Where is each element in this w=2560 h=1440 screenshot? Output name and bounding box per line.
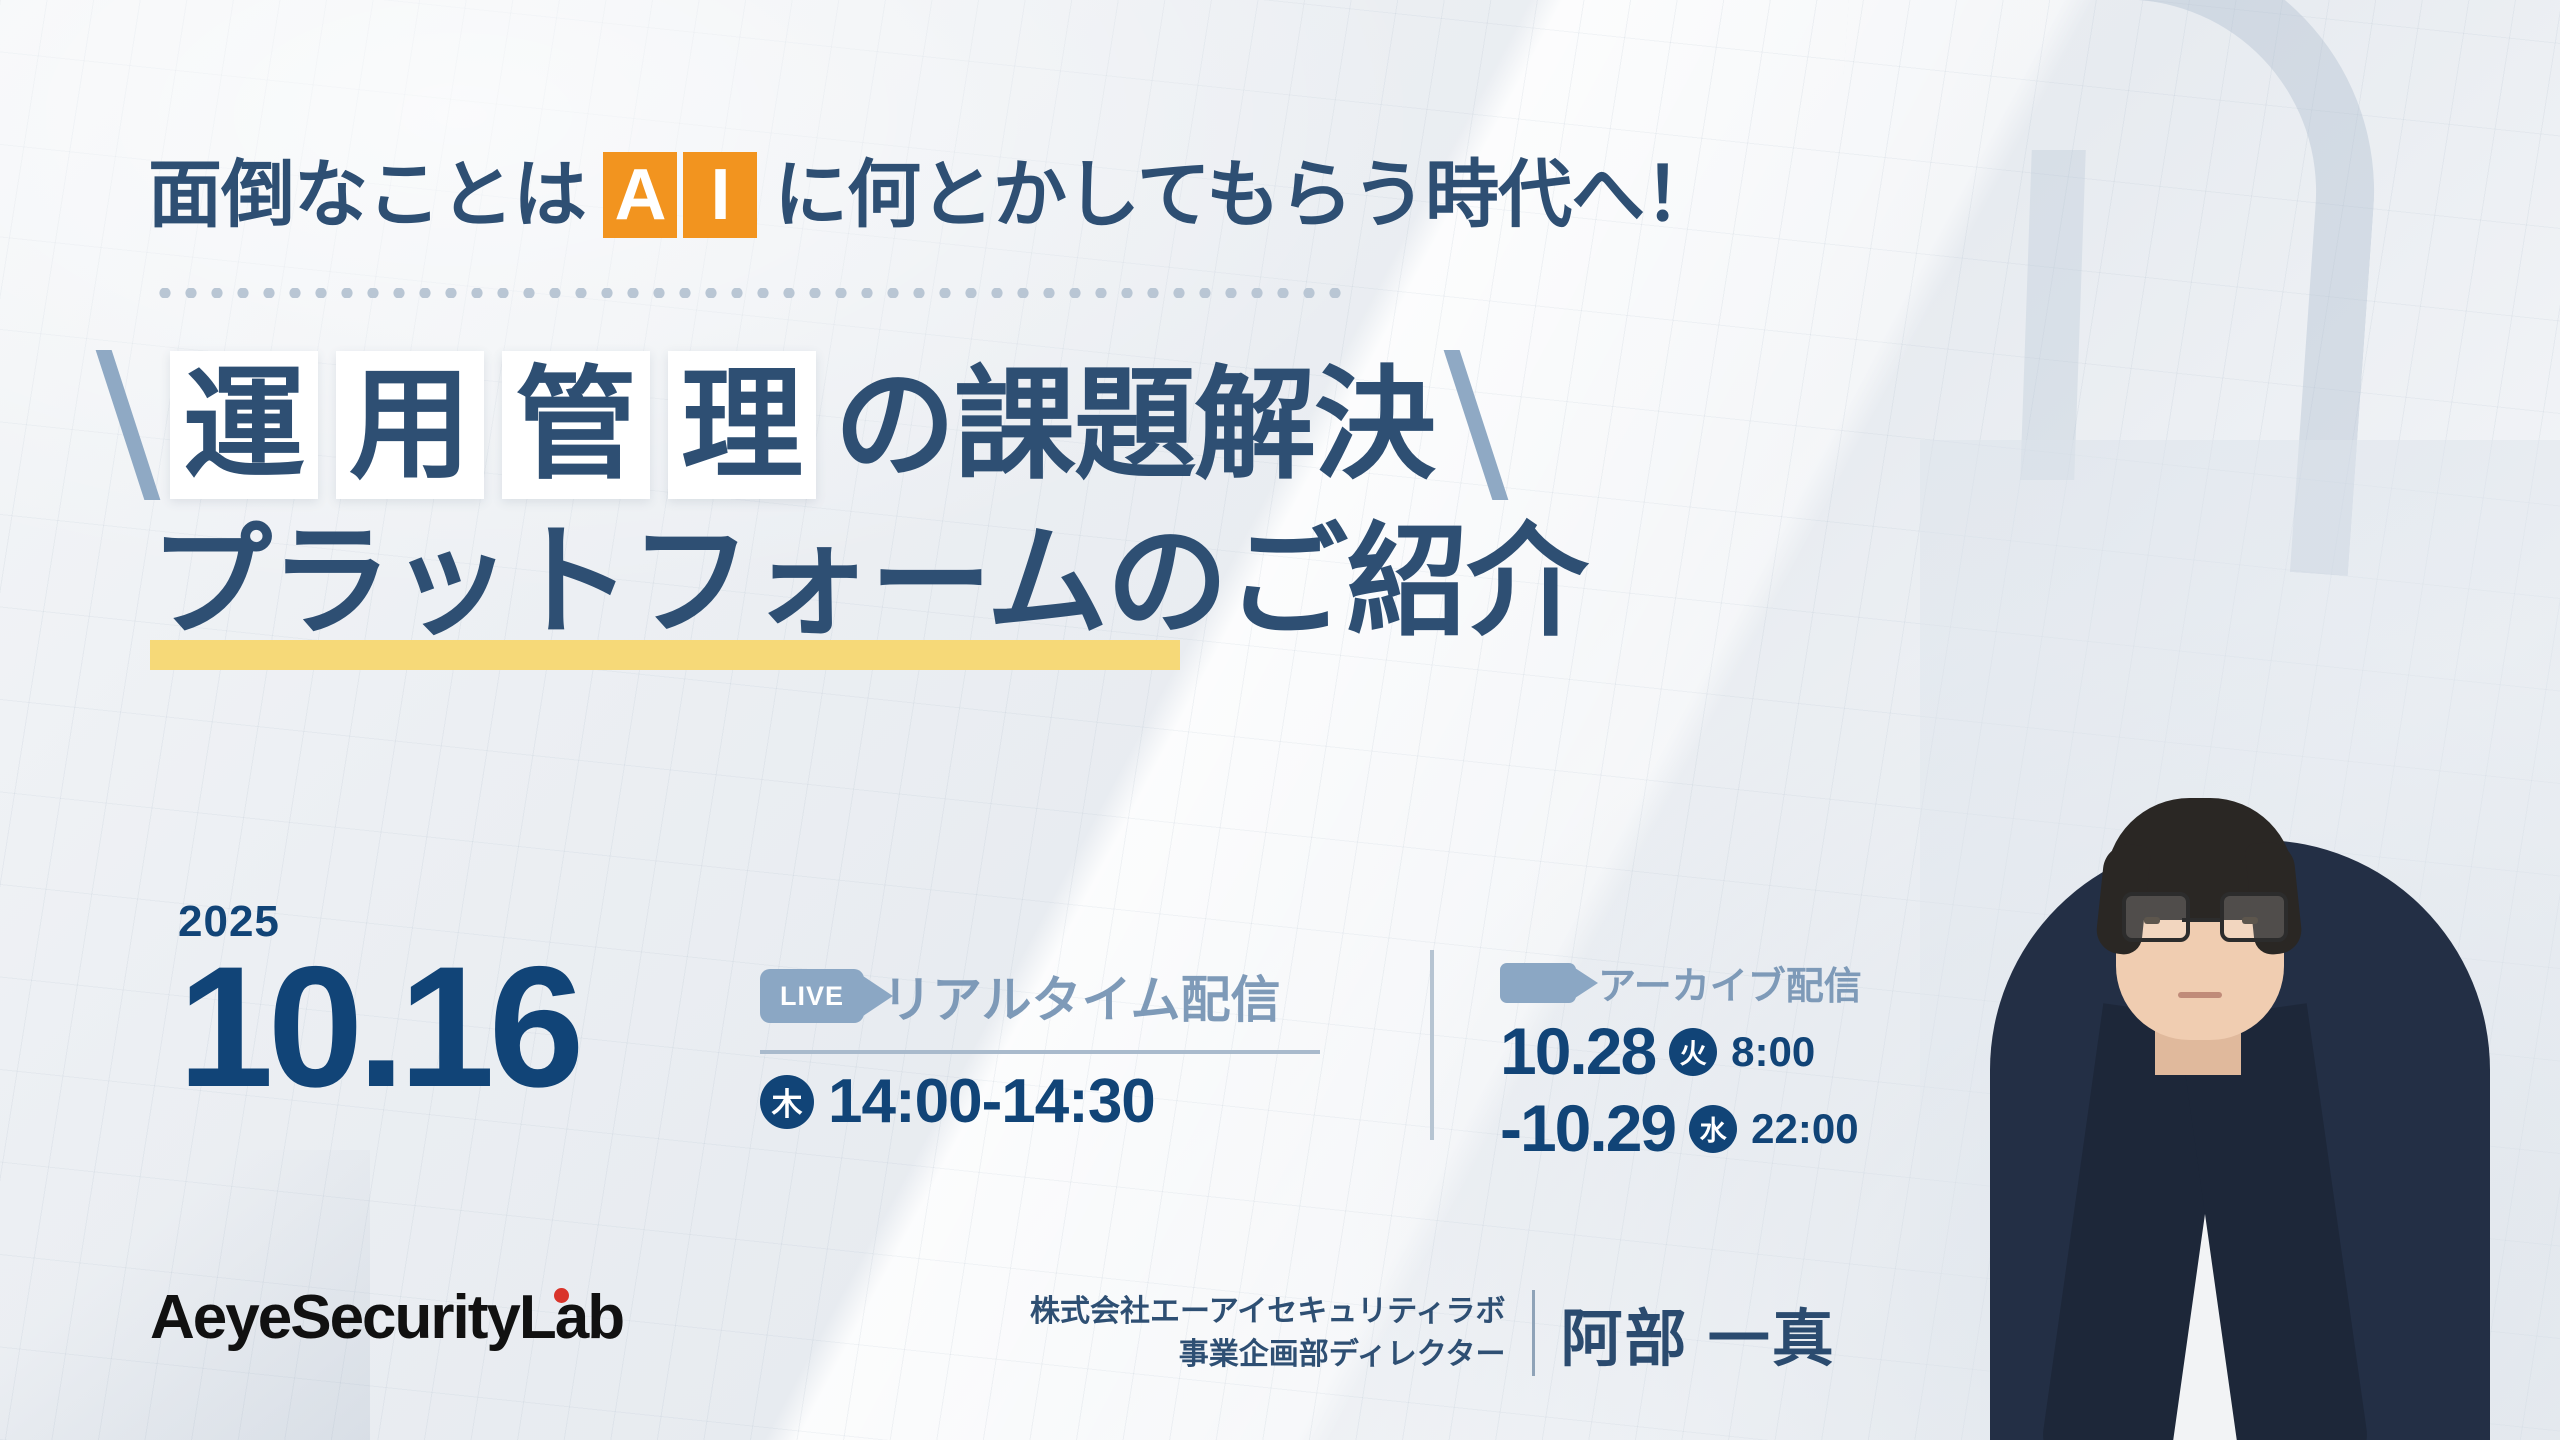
presenter-glasses-left-lens [2122,892,2190,942]
boxed-char-3: 管 [502,351,650,499]
title-line-2-text: プラットフォームのご紹介 [150,514,1586,650]
archive-time-1: 8:00 [1731,1028,1815,1076]
live-stream-header: LIVE リアルタイム配信 [760,960,1360,1032]
boxed-char-4: 理 [668,351,816,499]
decorative-bar-shape [2020,150,2296,480]
title-line-1-tail: の課題解決 [834,364,1434,486]
live-badge-text: LIVE [780,981,844,1012]
event-day: 10.16 [178,948,578,1106]
headline-before-text: 面倒なことは [148,158,586,232]
right-slash-decoration [1444,350,1509,500]
boxed-char-1: 運 [170,351,318,499]
live-time-text: 14:00-14:30 [828,1066,1155,1137]
ai-chip-a: A [603,152,677,238]
speaker-org-line-2: 事業企画部ディレクター [1030,1333,1506,1377]
speaker-organization: 株式会社エーアイセキュリティラボ 事業企画部ディレクター [1030,1290,1506,1377]
company-logo: AeyeSecurityLab [150,1282,623,1353]
archive-camera-icon [1500,963,1576,1003]
boxed-char-2: 用 [336,351,484,499]
speaker-divider [1532,1290,1535,1376]
ai-chip-group: A I [600,152,760,238]
archive-weekday-badge-2: 水 [1689,1105,1737,1153]
live-stream-block: LIVE リアルタイム配信 木 14:00-14:30 [760,960,1360,1137]
event-date-block: 2025 10.16 [178,900,578,1106]
archive-weekday-badge-1: 火 [1669,1028,1717,1076]
title-line-2: プラットフォームのご紹介 [150,518,1586,646]
live-weekday-badge: 木 [760,1075,814,1129]
section-vertical-divider [1430,950,1434,1140]
speaker-block: 株式会社エーアイセキュリティラボ 事業企画部ディレクター 阿部 一真 [1030,1288,1836,1378]
speaker-org-line-1: 株式会社エーアイセキュリティラボ [1030,1290,1506,1334]
presenter-mouth [2178,992,2222,998]
archive-time-2: 22:00 [1751,1105,1858,1153]
webinar-banner: 面倒なことは A I に何とかしてもらう時代へ！ 運 用 管 理 の課題解決 プ… [0,0,2560,1440]
live-stream-label: リアルタイム配信 [882,960,1281,1032]
presenter-glasses-bridge [2182,918,2220,922]
headline: 面倒なことは A I に何とかしてもらう時代へ！ [148,152,1717,238]
ai-chip-i: I [683,152,757,238]
company-logo-text: AeyeSecurityLab [150,1283,623,1352]
live-camera-icon: LIVE [760,969,864,1023]
presenter-glasses-right-lens [2220,892,2288,942]
dotted-divider [152,288,1352,298]
headline-after-text: に何とかしてもらう時代へ！ [774,158,1717,232]
left-slash-decoration [96,350,161,500]
archive-label: アーカイブ配信 [1598,955,1862,1010]
live-divider-rule [760,1050,1320,1054]
presenter-photo [1920,440,2560,1440]
archive-date-1: 10.28 [1500,1016,1655,1087]
logo-red-dot-icon [554,1288,569,1303]
speaker-name: 阿部 一真 [1561,1288,1836,1378]
live-time-row: 木 14:00-14:30 [760,1066,1360,1137]
title-line-1: 運 用 管 理 の課題解決 [120,350,1484,500]
archive-date-2: -10.29 [1500,1093,1675,1164]
